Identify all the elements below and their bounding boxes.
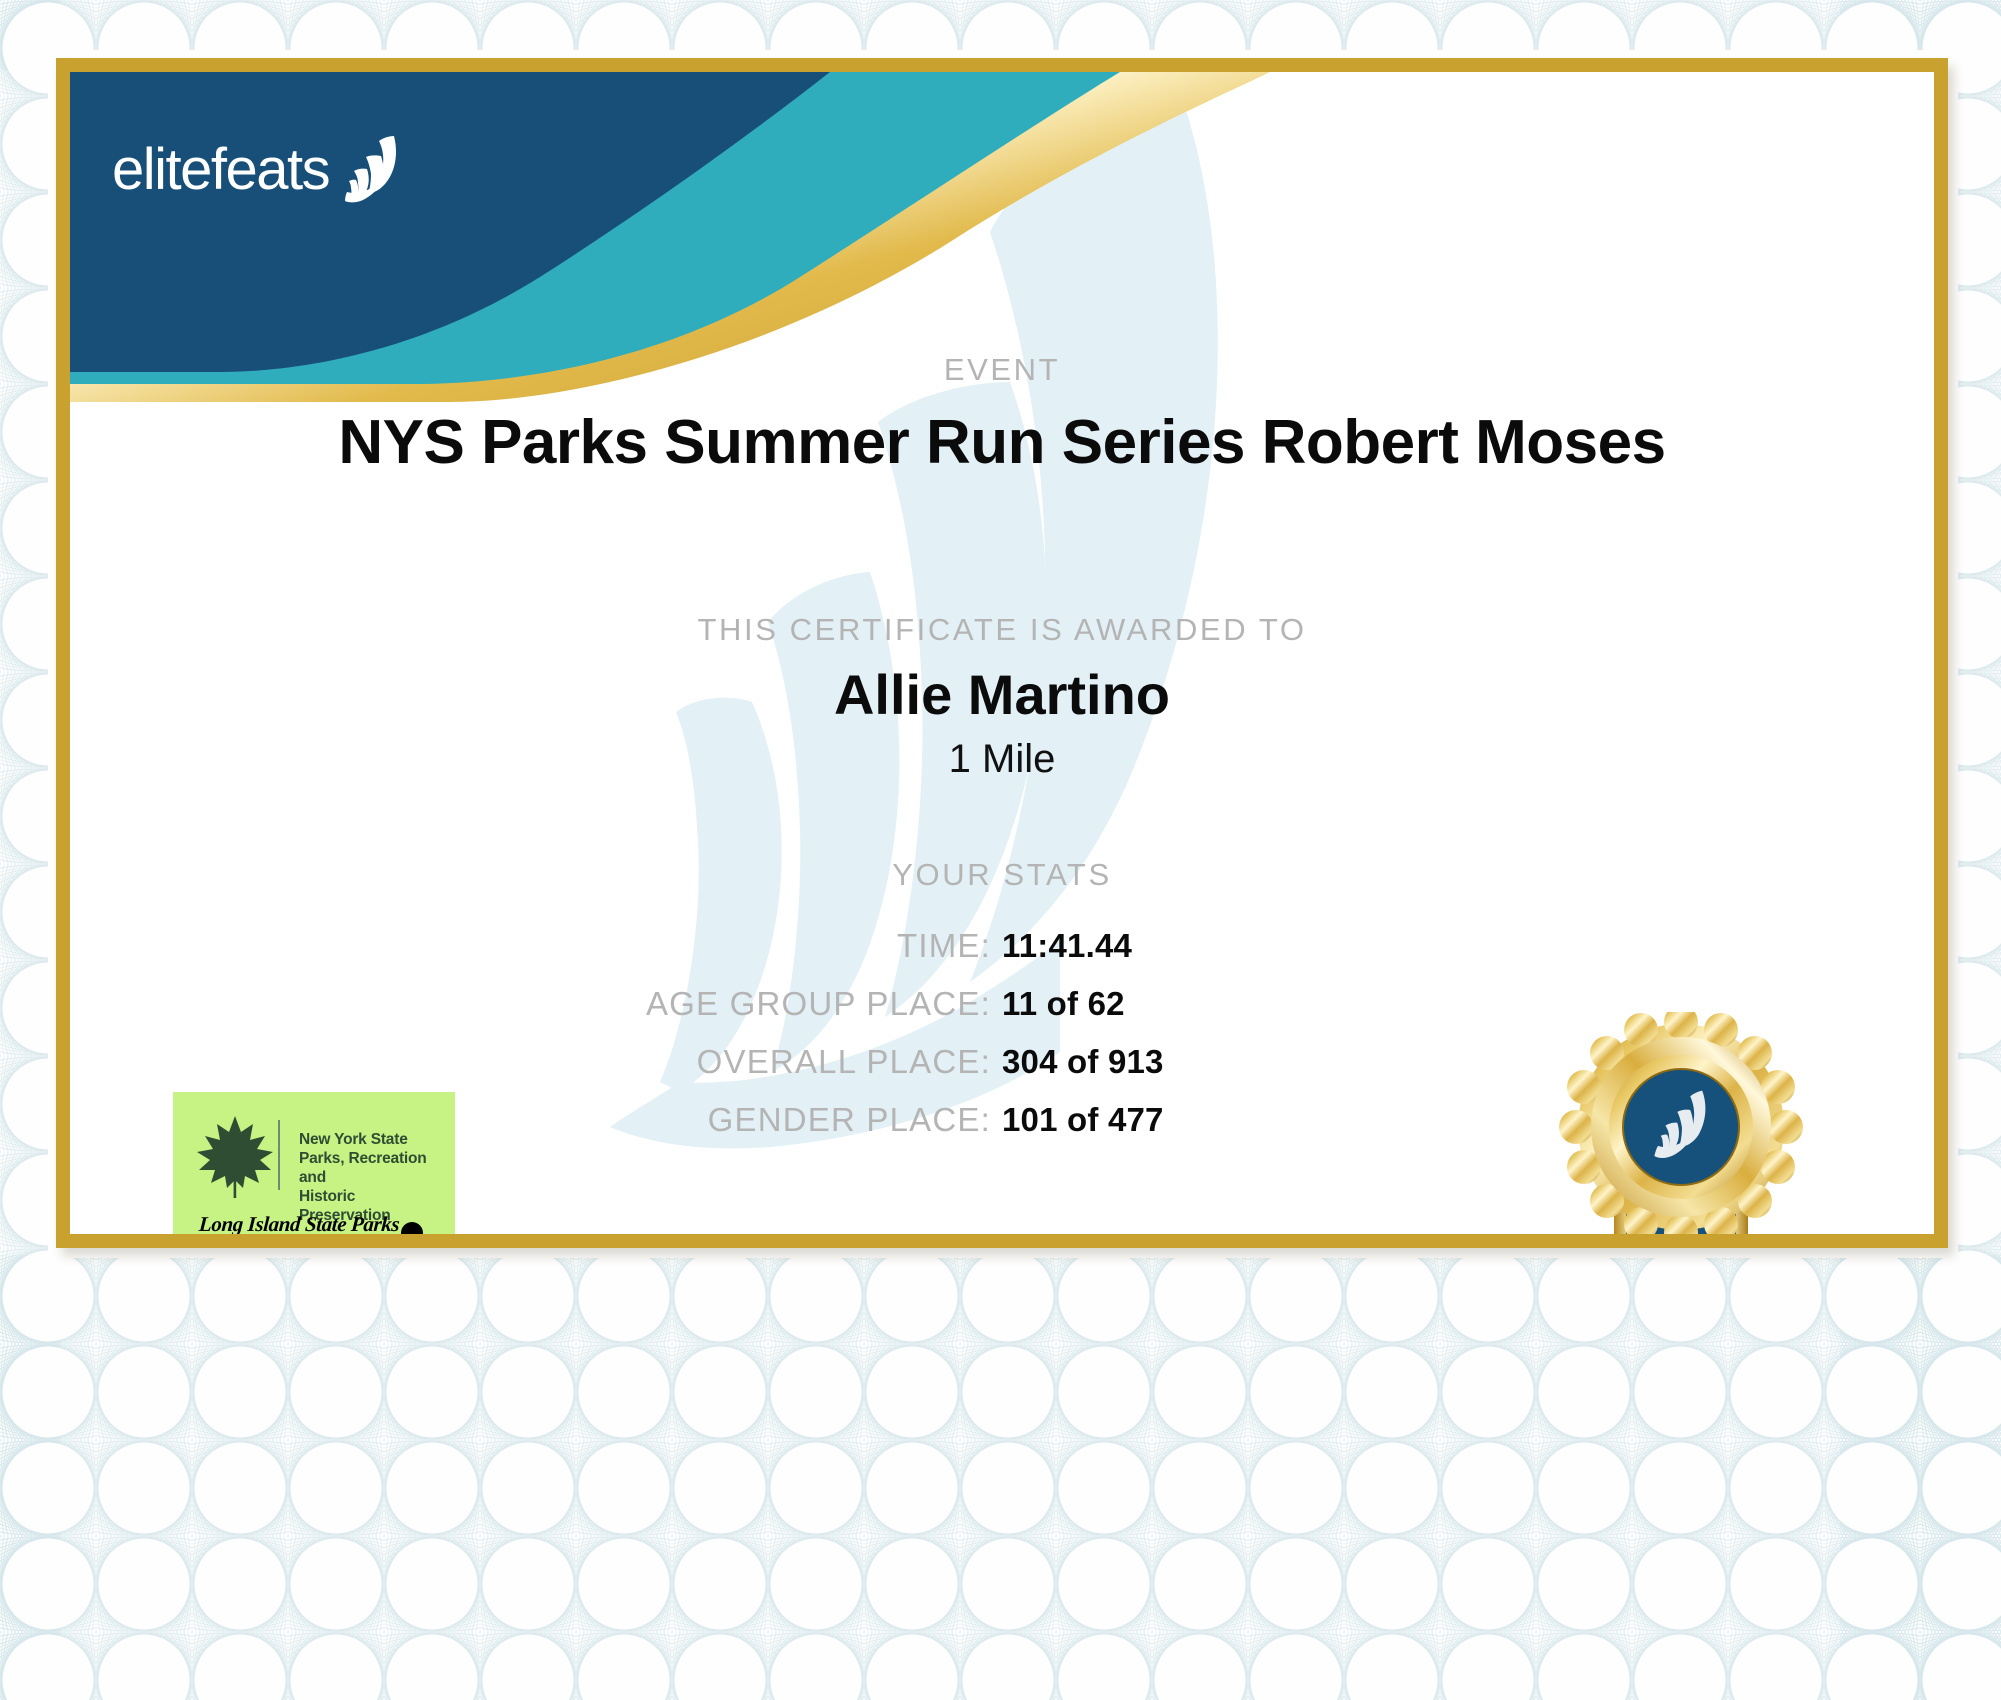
nys-parks-lockup: New York State Parks, Recreation and His… xyxy=(189,1110,441,1202)
stripe-bars xyxy=(195,1238,400,1248)
summer-run-lockup: Long Island State Parks SUMMER RUN EST. … xyxy=(185,1212,445,1248)
award-caption: THIS CERTIFICATE IS AWARDED TO xyxy=(70,612,1934,648)
runners-silhouette-icon xyxy=(349,1220,445,1248)
stat-value: 11 of 62 xyxy=(1002,985,1492,1023)
brand-logo[interactable]: elitefeats xyxy=(112,130,442,208)
stat-label: GENDER PLACE: xyxy=(512,1101,1002,1139)
stat-value: 11:41.44 xyxy=(1002,927,1492,965)
certificate-page: elitefeats EVENT NYS Parks Summer Run Se… xyxy=(0,0,2001,1700)
stat-value: 101 of 477 xyxy=(1002,1101,1492,1139)
stat-value: 304 of 913 xyxy=(1002,1043,1492,1081)
sponsor-logo: New York State Parks, Recreation and His… xyxy=(173,1092,455,1248)
nys-parks-text: New York State Parks, Recreation and His… xyxy=(299,1130,441,1225)
stat-label: OVERALL PLACE: xyxy=(512,1043,1002,1081)
race-distance: 1 Mile xyxy=(70,737,1934,782)
event-caption: EVENT xyxy=(70,352,1934,388)
finisher-medal: 2022 xyxy=(1556,1012,1806,1248)
stat-label: TIME: xyxy=(512,927,1002,965)
recipient-name: Allie Martino xyxy=(70,662,1934,727)
certificate-card: elitefeats EVENT NYS Parks Summer Run Se… xyxy=(56,58,1948,1248)
agency-line-1: New York State xyxy=(299,1130,441,1149)
stat-label: AGE GROUP PLACE: xyxy=(512,985,1002,1023)
event-title: NYS Parks Summer Run Series Robert Moses xyxy=(70,407,1934,478)
maple-leaf-icon xyxy=(189,1110,281,1202)
brand-logo-text: elitefeats xyxy=(112,131,329,209)
stats-caption: YOUR STATS xyxy=(70,857,1934,893)
agency-line-2: Parks, Recreation and xyxy=(299,1149,441,1187)
winged-foot-icon xyxy=(336,130,410,209)
stat-row-time: TIME: 11:41.44 xyxy=(70,927,1934,965)
